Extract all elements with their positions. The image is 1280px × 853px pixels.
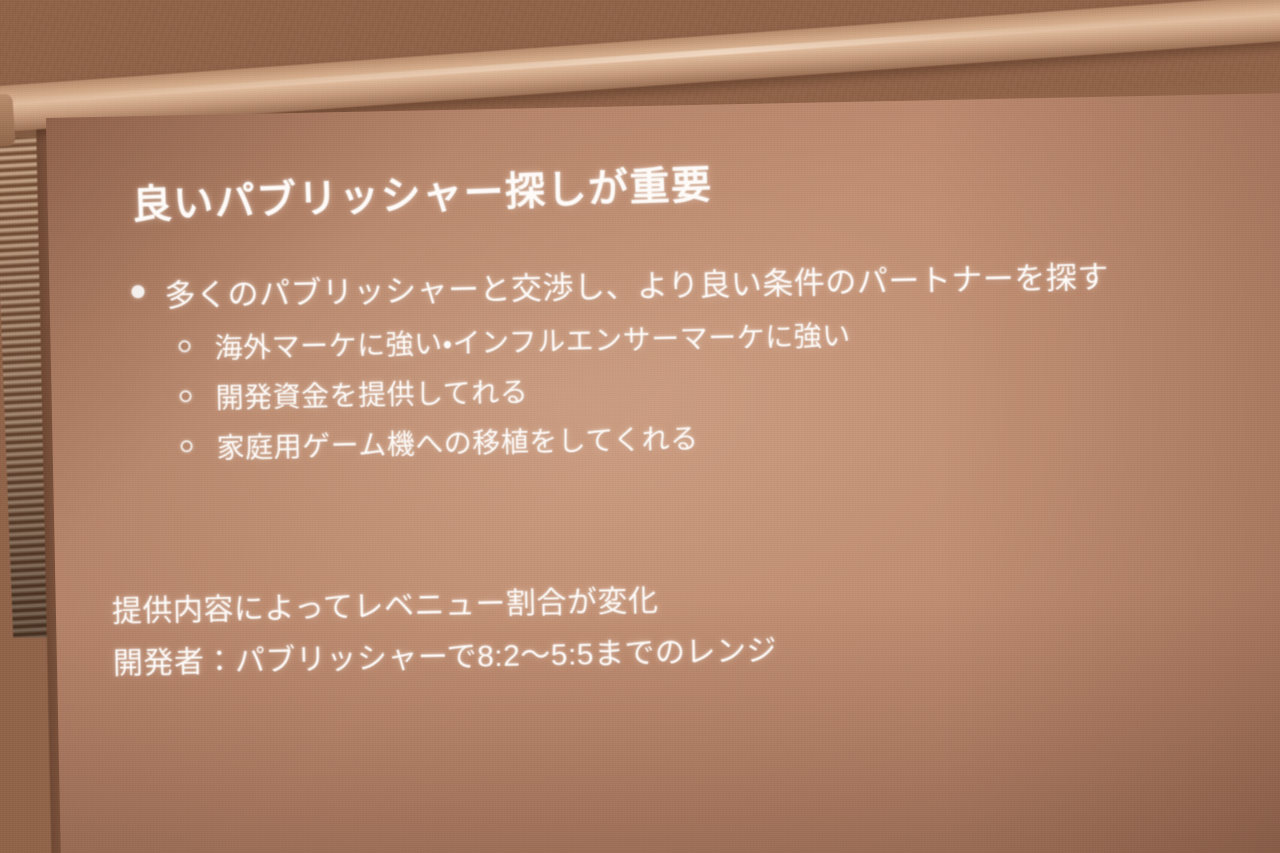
bullet-item-sub-1: 海外マーケに強い・インフルエンサーマーケに強い <box>178 314 851 367</box>
hollow-circle-bullet-icon <box>180 440 192 452</box>
bullet-item-sub-2: 開発資金を提供してれる <box>179 370 528 417</box>
hollow-circle-bullet-icon <box>179 390 191 402</box>
bullet-item-primary: 多くのパブリッシャーと交渉し、より良い条件のパートナーを探す <box>131 252 1109 317</box>
bullet-label-sub-1: 海外マーケに強い・インフルエンサーマーケに強い <box>214 314 851 367</box>
slide-title: 良いパブリッシャー探しが重要 <box>131 152 714 231</box>
hollow-circle-bullet-icon <box>178 340 190 352</box>
bullet-label-primary: 多くのパブリッシャーと交渉し、より良い条件のパートナーを探す <box>164 252 1109 316</box>
bullet-label-sub-3: 家庭用ゲーム機への移植をしてくれる <box>216 417 699 467</box>
bullet-item-sub-3: 家庭用ゲーム機への移植をしてくれる <box>180 417 699 467</box>
slide-content: 良いパブリッシャー探しが重要 多くのパブリッシャーと交渉し、より良い条件のパート… <box>46 93 1280 853</box>
footer-line-1: 提供内容によってレベニュー割合が変化 <box>111 576 658 631</box>
photo-scene: 良いパブリッシャー探しが重要 多くのパブリッシャーと交渉し、より良い条件のパート… <box>0 0 1280 853</box>
filled-disc-bullet-icon <box>131 285 144 298</box>
footer-line-2: 開発者：パブリッシャーで8:2〜5:5までのレンジ <box>112 625 777 682</box>
bullet-label-sub-2: 開発資金を提供してれる <box>215 370 528 416</box>
